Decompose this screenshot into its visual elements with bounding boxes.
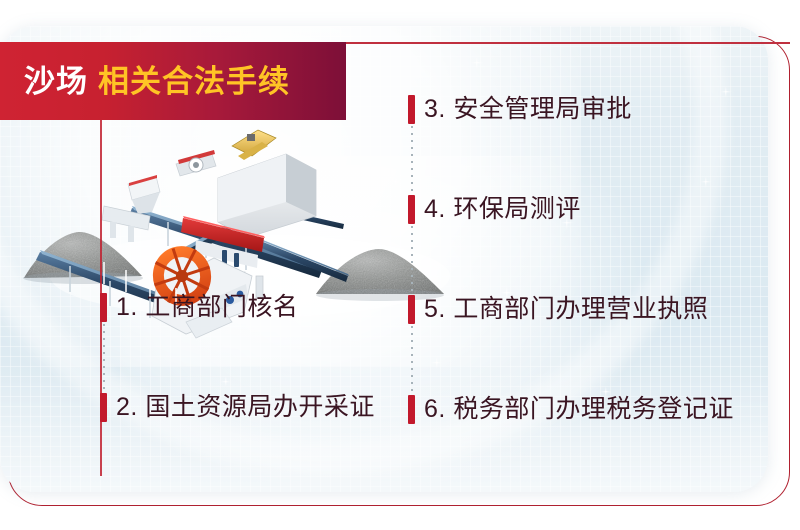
list-item-text: 安全管理局审批 [453,95,632,123]
banner-title-secondary: 相关合法手续 [98,64,290,99]
list-item-number: 2. [116,393,138,421]
accent-bar-icon [100,293,107,322]
list-item[interactable]: 4. 环保局测评 [408,192,758,226]
list-item-label: 5. 工商部门办理营业执照 [424,297,708,322]
list-item-text: 环保局测评 [453,195,581,223]
list-item[interactable]: 6. 税务部门办理税务登记证 [408,392,758,426]
accent-bar-icon [408,195,415,224]
accent-bar-icon [408,395,415,424]
list-item-number: 6. [424,395,446,423]
list-item[interactable]: 1. 工商部门核名 [100,290,400,324]
list-item[interactable]: 3. 安全管理局审批 [408,92,758,126]
steps-right-column: 3. 安全管理局审批 4. 环保局测评 5. 工商部门办理营业执照 6. 税务部… [408,92,758,426]
list-item-number: 3. [424,95,446,123]
list-item-label: 3. 安全管理局审批 [424,97,632,122]
list-item-text: 税务部门办理税务登记证 [453,395,734,423]
banner-top-rule [346,42,790,44]
list-item[interactable]: 2. 国土资源局办开采证 [100,390,400,424]
list-item[interactable]: 5. 工商部门办理营业执照 [408,292,758,326]
steps-left-column: 1. 工商部门核名 2. 国土资源局办开采证 [100,290,400,424]
list-item-label: 6. 税务部门办理税务登记证 [424,397,734,422]
list-item-label: 4. 环保局测评 [424,197,581,222]
accent-bar-icon [100,393,107,422]
infographic-root: 沙场相关合法手续 1. 工商部门核名 2. 国土资源局办开采证 3. [0,0,800,530]
list-item-label: 1. 工商部门核名 [116,295,298,320]
accent-bar-icon [408,295,415,324]
list-item-label: 2. 国土资源局办开采证 [116,395,375,420]
list-item-number: 1. [116,293,138,321]
list-item-number: 4. [424,195,446,223]
accent-bar-icon [408,95,415,124]
list-item-text: 工商部门办理营业执照 [453,295,708,323]
list-item-text: 国土资源局办开采证 [145,393,375,421]
list-item-text: 工商部门核名 [145,293,298,321]
list-item-number: 5. [424,295,446,323]
banner-text: 沙场相关合法手续 [24,66,290,97]
banner-title-primary: 沙场 [24,64,88,99]
title-banner: 沙场相关合法手续 [0,42,346,120]
